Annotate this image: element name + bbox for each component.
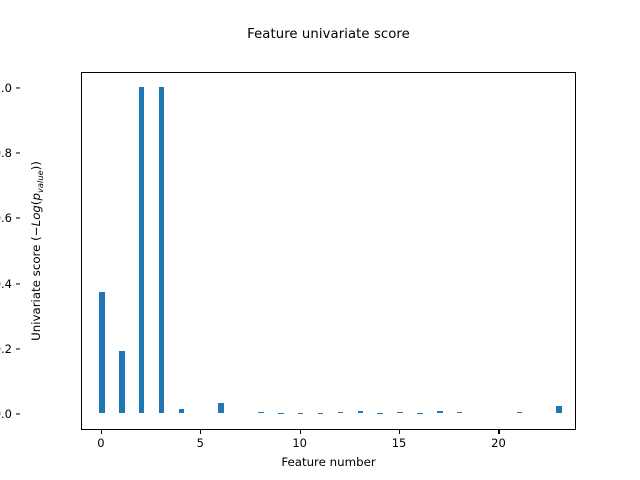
x-tick-mark bbox=[498, 430, 499, 434]
x-tick-label: 20 bbox=[491, 436, 506, 450]
bar-series bbox=[82, 73, 575, 429]
y-axis-label-p: p bbox=[29, 193, 43, 201]
x-tick-label: 0 bbox=[97, 436, 104, 450]
y-axis-label: Univariate score (−Log(pvalue)) bbox=[26, 72, 46, 430]
y-tick-label: 0.0 bbox=[0, 407, 12, 421]
x-tick-mark bbox=[300, 430, 301, 434]
bar bbox=[119, 351, 125, 413]
y-tick-label: 0.4 bbox=[0, 277, 12, 291]
x-tick-label: 10 bbox=[292, 436, 307, 450]
bar bbox=[278, 413, 284, 414]
y-axis-label-subscript: value bbox=[35, 170, 45, 193]
bar bbox=[397, 412, 403, 414]
bar bbox=[358, 411, 364, 413]
bar bbox=[179, 409, 185, 413]
bar bbox=[556, 406, 562, 413]
bar bbox=[218, 403, 224, 414]
bar bbox=[457, 412, 463, 413]
x-tick-label: 5 bbox=[197, 436, 204, 450]
plot-area bbox=[81, 72, 576, 430]
bar bbox=[139, 87, 145, 414]
y-axis-label-prefix: Univariate score (− bbox=[29, 226, 43, 341]
y-tick-mark bbox=[16, 152, 20, 153]
bar bbox=[338, 412, 344, 413]
y-tick-mark bbox=[16, 283, 20, 284]
x-tick-mark bbox=[399, 430, 400, 434]
chart-title: Feature univariate score bbox=[81, 27, 576, 42]
bar bbox=[298, 413, 304, 414]
y-tick-label: 1.0 bbox=[0, 81, 12, 95]
y-tick-mark bbox=[16, 414, 20, 415]
x-tick-label: 15 bbox=[392, 436, 407, 450]
bar bbox=[258, 412, 264, 414]
figure-canvas: Feature univariate score 0.00.20.40.60.8… bbox=[0, 0, 640, 480]
y-tick-mark bbox=[16, 348, 20, 349]
y-axis-label-close: )) bbox=[29, 161, 43, 170]
y-tick-label: 0.6 bbox=[0, 211, 12, 225]
bar bbox=[99, 292, 105, 413]
y-axis-label-log: Log bbox=[29, 205, 43, 226]
y-tick-mark bbox=[16, 218, 20, 219]
y-axis-label-open: ( bbox=[29, 200, 43, 205]
bar bbox=[377, 413, 383, 414]
y-tick-mark bbox=[16, 87, 20, 88]
y-tick-label: 0.2 bbox=[0, 342, 12, 356]
bar bbox=[159, 87, 165, 414]
x-tick-mark bbox=[101, 430, 102, 434]
x-axis-label: Feature number bbox=[81, 455, 576, 469]
bar bbox=[437, 411, 443, 413]
x-tick-mark bbox=[200, 430, 201, 434]
y-tick-label: 0.8 bbox=[0, 146, 12, 160]
bar bbox=[517, 412, 523, 413]
